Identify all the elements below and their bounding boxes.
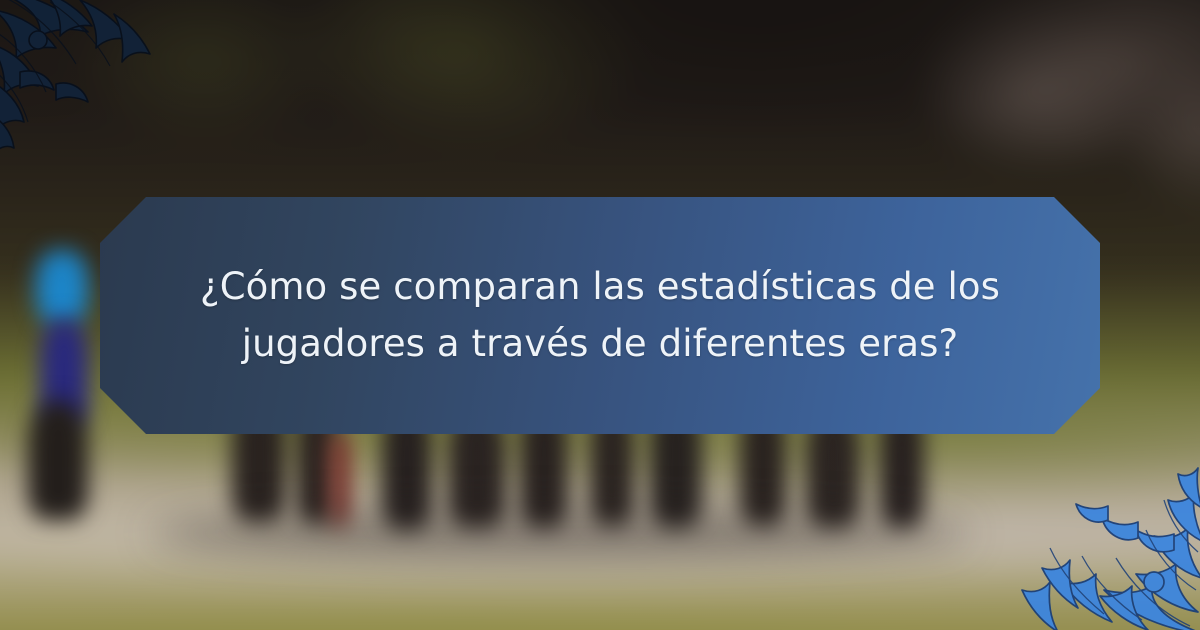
- title-banner: ¿Cómo se comparan las estadísticas de lo…: [100, 197, 1100, 434]
- corner-flourish-icon-top-left: [0, 0, 174, 174]
- page-title: ¿Cómo se comparan las estadísticas de lo…: [100, 259, 1100, 371]
- corner-flourish-icon-bottom-right: [1018, 448, 1200, 630]
- social-card: ¿Cómo se comparan las estadísticas de lo…: [0, 0, 1200, 630]
